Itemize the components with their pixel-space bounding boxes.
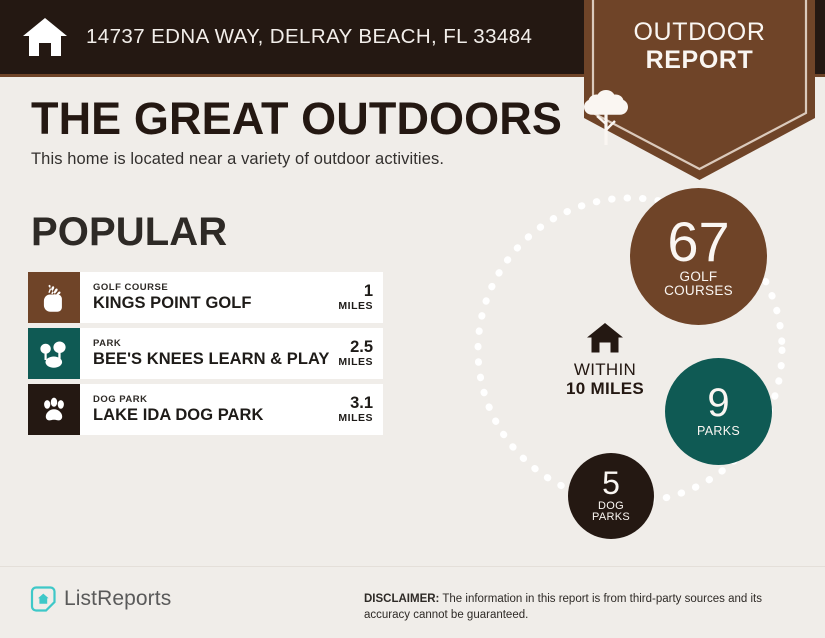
amenity-bubble-chart: 67 GOLF COURSES 9 PARKS 5 DOG PARKS WITH… [460,180,825,555]
footer-divider [0,566,825,567]
distance-unit: MILES [338,356,373,369]
page-subtitle: This home is located near a variety of o… [31,150,444,169]
list-item-body: DOG PARK LAKE IDA DOG PARK 3.1 MILES [80,384,383,435]
list-item[interactable]: GOLF COURSE KINGS POINT GOLF 1 MILES [28,272,383,323]
house-icon [586,322,624,354]
distance-unit: MILES [338,300,373,313]
bubble-value: 5 [602,468,620,498]
list-item[interactable]: PARK BEE'S KNEES LEARN & PLAY 2.5 MILES [28,328,383,379]
bubble-label-line1: PARKS [697,425,740,438]
disclaimer-label: DISCLAIMER: [364,593,439,605]
within-line2: 10 MILES [535,379,675,398]
list-item-texts: PARK BEE'S KNEES LEARN & PLAY [93,338,329,369]
list-item-body: PARK BEE'S KNEES LEARN & PLAY 2.5 MILES [80,328,383,379]
tree-icon [584,88,815,146]
list-item-body: GOLF COURSE KINGS POINT GOLF 1 MILES [80,272,383,323]
distance-unit: MILES [338,412,373,425]
distance-value: 3.1 [338,395,373,412]
golf-bag-icon [28,272,80,323]
disclaimer: DISCLAIMER: The information in this repo… [364,592,809,624]
distance-value: 1 [338,283,373,300]
listreports-logo[interactable]: ListReports [30,586,171,612]
list-item-texts: DOG PARK LAKE IDA DOG PARK [93,394,263,425]
within-radius-label: WITHIN 10 MILES [535,322,675,398]
list-item-category: GOLF COURSE [93,282,251,294]
popular-heading: POPULAR [31,212,227,252]
outdoor-report-page: 14737 EDNA WAY, DELRAY BEACH, FL 33484 O… [0,0,825,638]
page-title: THE GREAT OUTDOORS [31,96,562,141]
list-item-category: DOG PARK [93,394,263,406]
distance-value: 2.5 [338,339,373,356]
list-item-distance: 2.5 MILES [332,339,373,369]
bubble-dog-parks: 5 DOG PARKS [568,453,654,539]
bubble-value: 9 [707,384,729,422]
listreports-logo-text: ListReports [64,587,171,611]
bubble-label-line2: PARKS [592,512,630,524]
within-line1: WITHIN [535,360,675,379]
list-item-distance: 1 MILES [332,283,373,313]
bubble-value: 67 [667,215,729,268]
property-address: 14737 EDNA WAY, DELRAY BEACH, FL 33484 [86,25,532,49]
listreports-logo-icon [30,586,56,612]
list-item[interactable]: DOG PARK LAKE IDA DOG PARK 3.1 MILES [28,384,383,435]
park-tree-icon [28,328,80,379]
bubble-parks: 9 PARKS [665,358,772,465]
list-item-name: LAKE IDA DOG PARK [93,406,263,425]
list-item-name: BEE'S KNEES LEARN & PLAY [93,350,329,369]
list-item-distance: 3.1 MILES [332,395,373,425]
list-item-texts: GOLF COURSE KINGS POINT GOLF [93,282,251,313]
bubble-golf-courses: 67 GOLF COURSES [630,188,767,325]
bubble-label-line1: GOLF [680,270,718,284]
list-item-name: KINGS POINT GOLF [93,294,251,313]
outdoor-report-badge: OUTDOOR REPORT [584,0,815,180]
bubble-label-line2: COURSES [664,284,733,298]
popular-list: GOLF COURSE KINGS POINT GOLF 1 MILES [28,272,383,440]
paw-print-icon [28,384,80,435]
house-icon [22,16,68,58]
list-item-category: PARK [93,338,329,350]
